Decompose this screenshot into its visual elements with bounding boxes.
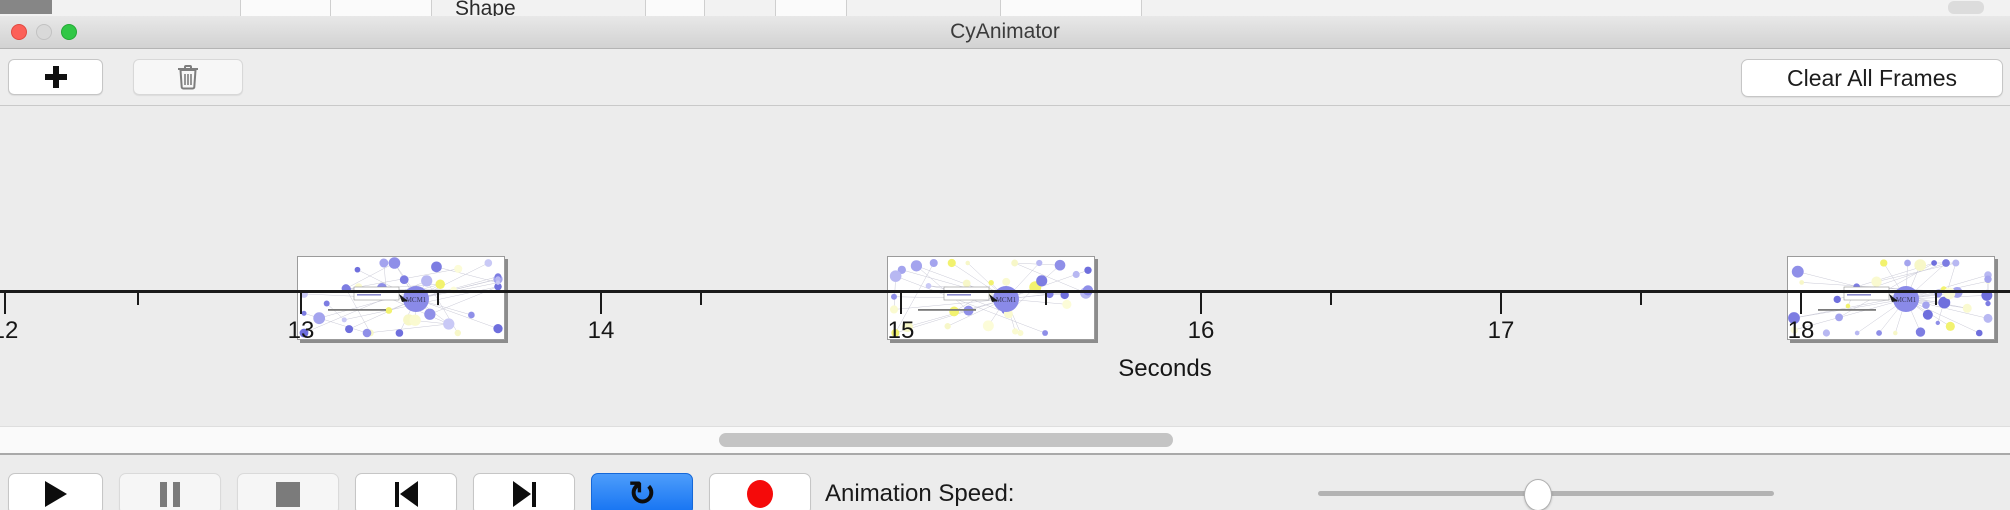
- trash-icon: [176, 63, 200, 91]
- frame-thumbnail-1[interactable]: MCM1: [297, 256, 505, 340]
- axis-tick: [700, 293, 702, 305]
- backdrop-scrollbar: [1948, 1, 1984, 14]
- frame-thumbnail-2[interactable]: MCM1: [887, 256, 1095, 340]
- delete-frame-button[interactable]: [133, 59, 243, 95]
- animation-speed-thumb[interactable]: [1524, 479, 1552, 510]
- animation-speed-slider[interactable]: [1318, 473, 1774, 510]
- plus-icon: [45, 66, 67, 88]
- pause-button[interactable]: [119, 473, 221, 510]
- skip-next-button[interactable]: [473, 473, 575, 510]
- timeline-scrollbar[interactable]: [0, 426, 2010, 455]
- stop-icon: [276, 482, 300, 507]
- axis-tick: [4, 293, 6, 314]
- frame-toolbar: Clear All Frames: [0, 49, 2010, 106]
- timeline-panel[interactable]: MCM1MCM1MCM1 12131415161718 Seconds: [0, 106, 2010, 426]
- add-frame-button[interactable]: [8, 59, 103, 95]
- axis-tick-label: 12: [0, 317, 18, 345]
- axis-tick: [1330, 293, 1332, 305]
- axis-tick: [1935, 293, 1937, 305]
- backdrop-column-4: [775, 0, 847, 16]
- axis-tick-label: 17: [1488, 317, 1515, 345]
- axis-tick: [900, 293, 902, 314]
- svg-text:MCM1: MCM1: [996, 296, 1017, 304]
- axis-tick: [300, 293, 302, 314]
- timeline-scrollbar-thumb[interactable]: [719, 433, 1173, 447]
- axis-tick-label: 14: [588, 317, 615, 345]
- axis-tick-label: 16: [1188, 317, 1215, 345]
- backdrop-column-1: [240, 0, 332, 16]
- backdrop-column-5: [1000, 0, 1142, 16]
- clear-all-frames-button[interactable]: Clear All Frames: [1741, 59, 2003, 97]
- parent-app-backdrop: Shape: [0, 0, 2010, 17]
- playback-control-bar: ↻ Animation Speed:: [0, 455, 2010, 510]
- backdrop-dark-block: [0, 0, 52, 14]
- axis-tick: [1045, 293, 1047, 305]
- play-icon: [45, 481, 67, 507]
- timeline-axis-title: Seconds: [1118, 355, 1211, 383]
- axis-tick: [1800, 293, 1802, 314]
- record-icon: [747, 480, 773, 508]
- backdrop-column-2: [330, 0, 432, 16]
- play-button[interactable]: [8, 473, 103, 510]
- svg-text:MCM1: MCM1: [406, 296, 427, 304]
- record-button[interactable]: [709, 473, 811, 510]
- window-titlebar: CyAnimator: [0, 16, 2010, 49]
- skip-previous-button[interactable]: [355, 473, 457, 510]
- axis-tick-label: 15: [888, 317, 915, 345]
- pause-icon: [160, 482, 180, 507]
- window-title: CyAnimator: [0, 16, 2010, 48]
- axis-tick-label: 18: [1788, 317, 1815, 345]
- svg-text:MCM1: MCM1: [1896, 296, 1917, 304]
- axis-tick: [1200, 293, 1202, 314]
- axis-tick: [137, 293, 139, 305]
- frame-thumbnail-3[interactable]: MCM1: [1787, 256, 1995, 340]
- loop-button[interactable]: ↻: [591, 473, 693, 510]
- animation-speed-label: Animation Speed:: [825, 473, 1014, 510]
- axis-tick: [1640, 293, 1642, 305]
- skip-next-icon: [513, 481, 536, 507]
- stop-button[interactable]: [237, 473, 339, 510]
- axis-tick-label: 13: [288, 317, 315, 345]
- axis-tick: [437, 293, 439, 305]
- skip-previous-icon: [395, 481, 418, 507]
- loop-icon: ↻: [628, 477, 657, 510]
- backdrop-shape-label: Shape: [455, 0, 516, 17]
- backdrop-column-3: [645, 0, 705, 16]
- cyanimator-window: CyAnimator Clear All Frames MCM1MCM1MCM1…: [0, 16, 2010, 510]
- axis-tick: [1500, 293, 1502, 314]
- axis-tick: [600, 293, 602, 314]
